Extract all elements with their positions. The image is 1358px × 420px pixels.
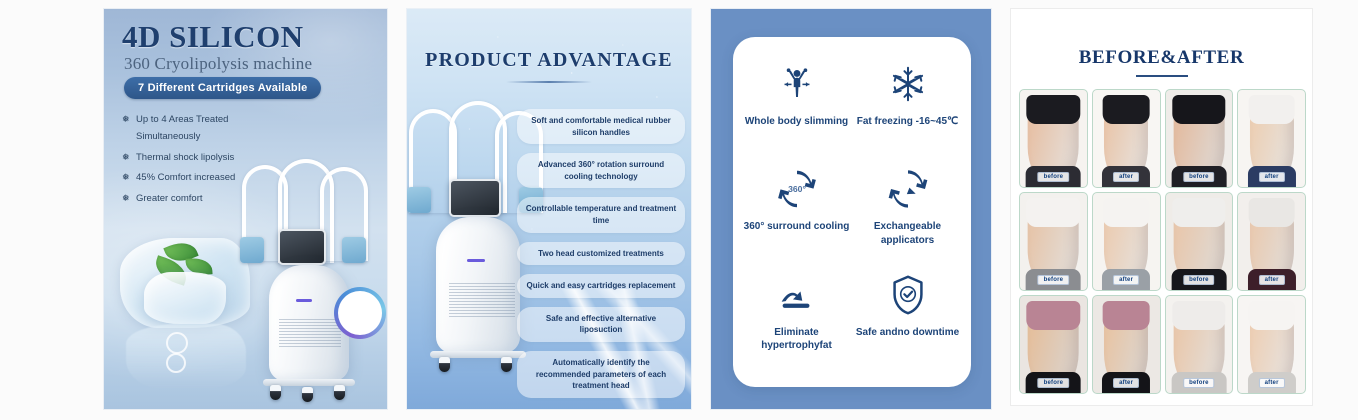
machine-illustration [234,159,384,409]
before-after-cell: before [1019,89,1088,188]
list-item: ❅Simultaneously [122,130,327,144]
before-after-cell: after [1092,89,1161,188]
phase-tag: before [1038,378,1070,388]
before-after-cell: after [1237,89,1306,188]
advantage-panel: PRODUCT ADVANTAGE Soft and comfortable m… [406,8,692,410]
torso-garment-top [1103,301,1150,330]
phase-tag: after [1113,275,1139,285]
phase-tag: after [1259,275,1285,285]
list-item-label: 45% Comfort increased [136,172,235,183]
feature-label: Whole body slimming [745,115,848,129]
feature-item-eliminate-fat: Eliminate hypertrophyfat [743,272,850,373]
before-after-cell: before [1165,89,1234,188]
torso-garment-top [1027,198,1080,227]
results-title: BEFORE&AFTER [1011,47,1312,69]
torso-garment-top [1027,95,1080,124]
phase-tag: after [1113,172,1139,182]
torso-garment-top [1172,95,1225,124]
status-led [296,299,312,302]
hero-subtitle: 360 Cryolipolysis machine [124,54,312,74]
snowflake-icon: ❅ [122,151,130,164]
torso-garment-top [1103,198,1150,227]
before-after-cell: after [1237,192,1306,291]
advantage-item: Advanced 360° rotation surround cooling … [517,153,685,188]
caster-wheel [501,357,512,372]
cartridge-holder [240,237,264,263]
ice-reflection [126,324,246,390]
control-screen[interactable] [278,229,326,265]
caster-wheel [270,385,281,400]
fat-reduction-icon [774,272,820,318]
list-item: ❅Up to 4 Areas Treated [122,113,327,127]
phase-tag: after [1259,172,1285,182]
before-after-cell: after [1237,295,1306,394]
applicator-coil [334,287,386,339]
advantage-list: Soft and comfortable medical rubber sili… [517,109,685,407]
list-item-label: Up to 4 Areas Treated [136,114,228,125]
control-screen[interactable] [449,179,501,217]
advantage-item: Soft and comfortable medical rubber sili… [517,109,685,144]
advantage-item: Automatically identify the recommended p… [517,351,685,398]
phase-tag: before [1183,275,1215,285]
cartridge-holder [407,187,431,213]
phase-tag: before [1183,378,1215,388]
snowflake-icon: ❅ [122,192,130,205]
feature-item-safe-no-downtime: Safe andno downtime [854,272,961,373]
before-after-cell: before [1019,192,1088,291]
body-slimming-icon [774,61,820,107]
advantage-item: Two head customized treatments [517,242,685,266]
feature-item-360-cooling: 360° 360° surround cooling [743,166,850,267]
list-item-label: Simultaneously [136,131,200,142]
before-after-grid: beforeafterbeforeafterbeforeafterbeforea… [1019,89,1306,394]
feature-label: Safe andno downtime [856,326,959,340]
torso-garment-top [1027,301,1080,330]
feature-label: Fat freezing -16~45℃ [857,115,959,129]
phase-tag: after [1259,378,1285,388]
rotation-360-icon: 360° [774,166,820,212]
cartridge-holder [342,237,366,263]
phase-tag: before [1038,172,1070,182]
water-ring [166,332,188,354]
advantage-item: Controllable temperature and treatment t… [517,197,685,232]
caster-wheel [302,387,313,402]
list-item-label: Greater comfort [136,193,203,204]
feature-label: Exchangeable applicators [854,220,961,247]
shield-check-icon [885,272,931,318]
snowflake-icon: ❅ [122,113,130,126]
title-underline [506,81,592,83]
features-card: Whole body slimming [733,37,971,387]
results-panel: BEFORE&AFTER beforeafterbeforeafterbefor… [1010,8,1313,406]
feature-label: Eliminate hypertrophyfat [743,326,850,353]
cartridges-badge: 7 Different Cartridges Available [124,77,321,99]
phase-tag: after [1113,378,1139,388]
title-underline [1136,75,1188,77]
before-after-cell: after [1092,192,1161,291]
vent-grille [449,283,515,317]
before-after-cell: before [1165,295,1234,394]
list-item-label: Thermal shock lipolysis [136,152,234,163]
snowflake-icon: ❅ [122,171,130,184]
phase-tag: before [1038,275,1070,285]
caster-wheel [439,357,450,372]
product-showcase-board: 4D SILICON 360 Cryolipolysis machine 7 D… [0,0,1358,420]
phase-tag: before [1183,172,1215,182]
water-ring [166,353,186,373]
torso-garment-top [1103,95,1150,124]
hero-title: 4D SILICON [122,19,304,55]
feature-item-exchangeable-applicators: Exchangeable applicators [854,166,961,267]
feature-label: 360° surround cooling [744,220,850,234]
vent-grille [279,319,341,349]
hero-panel: 4D SILICON 360 Cryolipolysis machine 7 D… [103,8,388,410]
exchange-arrows-icon [885,166,931,212]
torso-garment-top [1172,301,1225,330]
features-grid: Whole body slimming [743,61,961,373]
advantage-item: Quick and easy cartridges replacement [517,274,685,298]
svg-text:360°: 360° [788,184,806,194]
status-led [467,259,485,262]
caster-wheel [334,385,345,400]
before-after-cell: after [1092,295,1161,394]
features-panel: Whole body slimming [710,8,992,410]
snowflake-icon [885,61,931,107]
before-after-cell: before [1165,192,1234,291]
advantage-title: PRODUCT ADVANTAGE [407,49,691,72]
feature-item-whole-body-slimming: Whole body slimming [743,61,850,162]
before-after-cell: before [1019,295,1088,394]
torso-garment-top [1172,198,1225,227]
torso-garment-top [1248,301,1295,330]
ice-cube-small [144,272,226,324]
torso-garment-top [1248,198,1295,227]
torso-garment-top [1248,95,1295,124]
advantage-item: Safe and effective alternative liposucti… [517,307,685,342]
feature-item-fat-freezing: Fat freezing -16~45℃ [854,61,961,162]
